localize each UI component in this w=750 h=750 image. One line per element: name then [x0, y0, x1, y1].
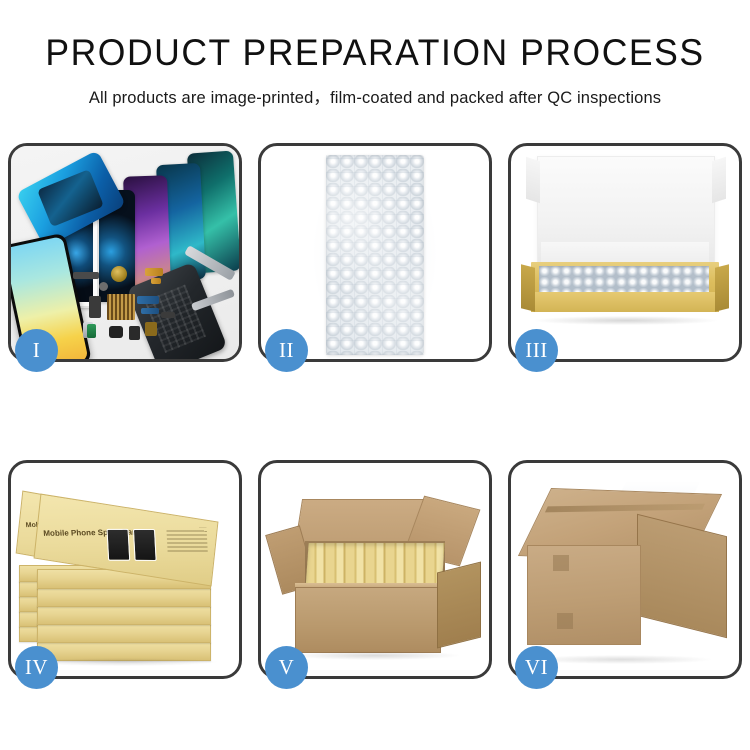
box-stack: Mobile Phone Spare Parts Mobile Phone Sp…	[11, 463, 239, 676]
step-3-image	[511, 146, 739, 359]
inner-box-shadow	[535, 316, 717, 325]
inner-box-right-flap-icon	[715, 264, 729, 311]
page-title: PRODUCT PREPARATION PROCESS	[15, 34, 735, 73]
step-6-image	[511, 463, 739, 676]
process-step-panel-2[interactable]: II	[258, 143, 492, 362]
bubble-wrap-icon	[326, 155, 424, 355]
part-ribbon-cable-2-icon	[141, 308, 159, 314]
part-chip-array-icon	[107, 294, 135, 320]
step-badge-1: I	[15, 329, 58, 372]
part-screw-icon	[99, 282, 108, 291]
step-1-image	[11, 146, 239, 359]
sealed-carton-tab-1	[553, 555, 569, 571]
step-4-image: Mobile Phone Spare Parts Mobile Phone Sp…	[11, 463, 239, 676]
process-step-panel-3[interactable]: III	[508, 143, 742, 362]
box-label-screen-graphic-front-2	[133, 529, 157, 561]
part-coil-icon	[111, 266, 127, 282]
step-badge-4: IV	[15, 646, 58, 689]
carton-front-face-icon	[295, 587, 441, 653]
box-label-spec-lines-front	[166, 528, 207, 552]
sealed-carton-side-icon	[637, 514, 727, 638]
sealed-carton-front-icon	[527, 545, 641, 645]
step-badge-6: VI	[515, 646, 558, 689]
sealed-carton-shadow	[531, 655, 711, 664]
step-badge-5: V	[265, 646, 308, 689]
carton-side-face-icon	[437, 562, 481, 649]
process-step-panel-1[interactable]: I	[8, 143, 242, 362]
process-step-panel-5[interactable]: V	[258, 460, 492, 679]
stacked-box-front-4	[37, 623, 211, 643]
carton-shadow	[291, 651, 459, 660]
step-2-image	[261, 146, 489, 359]
part-button-icon	[161, 312, 175, 318]
step-badge-3: III	[515, 329, 558, 372]
stacked-box-front-2	[37, 587, 211, 607]
part-flex-cable-small-icon	[151, 278, 161, 284]
inner-box-front-icon	[531, 292, 719, 312]
stacked-box-front-3	[37, 605, 211, 625]
process-step-grid: I II III	[8, 143, 742, 679]
sealed-carton-tab-2	[557, 613, 573, 629]
inner-box-left-flap-icon	[521, 264, 535, 311]
box-label-screen-graphic-front-1	[106, 529, 130, 561]
process-step-panel-6[interactable]: VI	[508, 460, 742, 679]
process-step-panel-4[interactable]: Mobile Phone Spare Parts Mobile Phone Sp…	[8, 460, 242, 679]
step-5-image	[261, 463, 489, 676]
part-bracket-icon	[89, 296, 101, 318]
part-flex-cable-icon	[145, 268, 163, 276]
part-speaker-icon	[129, 326, 140, 340]
part-camera-icon	[109, 326, 123, 338]
page-subtitle: All products are image-printed，film-coat…	[0, 84, 750, 108]
part-connector-icon	[73, 272, 99, 279]
page-header: PRODUCT PREPARATION PROCESS All products…	[0, 0, 750, 108]
part-sim-tray-icon	[145, 322, 157, 336]
step-badge-2: II	[265, 329, 308, 372]
part-ribbon-cable-icon	[137, 296, 159, 304]
part-battery-icon	[87, 324, 96, 338]
